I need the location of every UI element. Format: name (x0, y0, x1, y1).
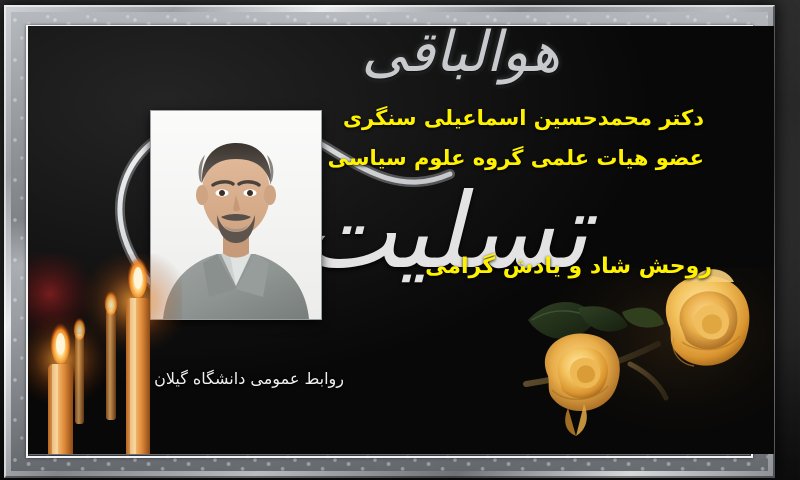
portrait-illustration (151, 111, 321, 319)
deceased-name: دکتر محمدحسین اسماعیلی سنگری (343, 106, 704, 130)
organization-credit: روابط عمومی دانشگاه گیلان (154, 369, 344, 388)
poster-canvas: هوالباقی تسلیت (28, 26, 774, 454)
header-calligraphy: هوالباقی (380, 26, 560, 88)
portrait-photo (151, 111, 321, 319)
deceased-role: عضو هیات علمی گروه علوم سیاسی (328, 146, 704, 170)
canvas-glow (28, 26, 774, 454)
condolence-poster: هوالباقی تسلیت (0, 0, 800, 480)
wish-line: روحش شاد و یادش گرامی (425, 254, 712, 279)
